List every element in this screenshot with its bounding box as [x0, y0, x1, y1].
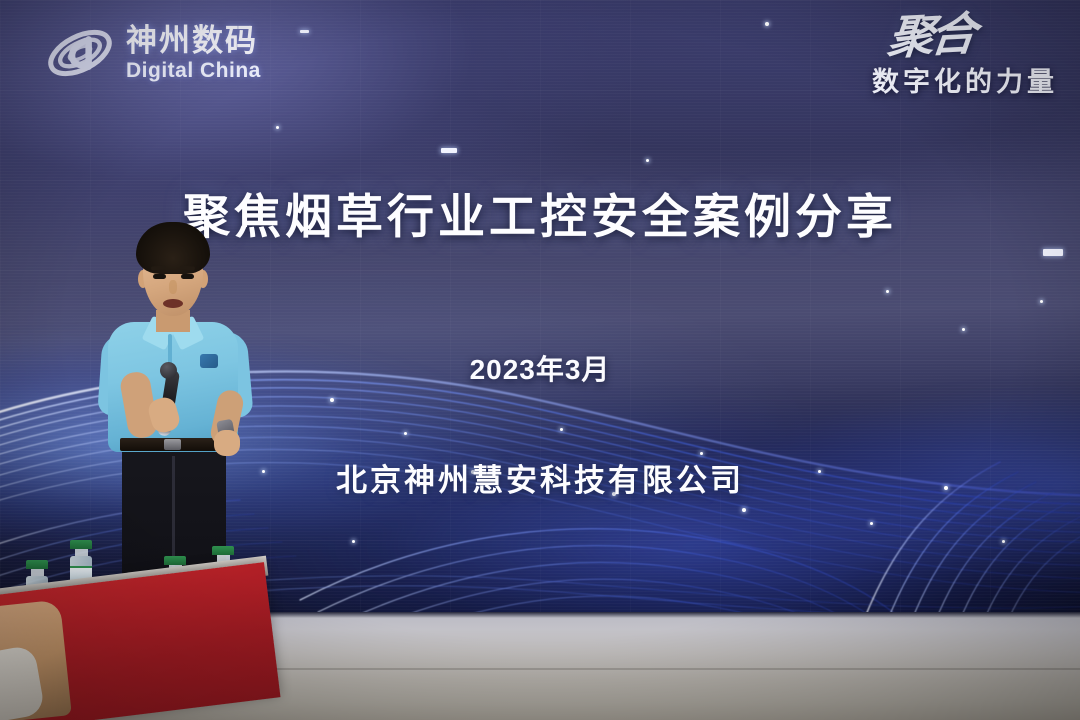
particle-dot [765, 22, 769, 26]
bottle-neck [31, 569, 44, 576]
digital-china-logo: 神州数码 Digital China [44, 22, 261, 84]
speaker-chest-logo [200, 354, 218, 368]
particle-dot [870, 522, 873, 525]
particle-dot [962, 328, 965, 331]
bottle-cap [70, 540, 92, 549]
speaker-shirt-placket [168, 334, 172, 364]
speaker-eye-right [181, 274, 194, 279]
bottle-cap [212, 546, 234, 555]
particle-dot [742, 508, 746, 512]
event-calligraphy: 聚合 [869, 13, 974, 60]
speaker-nose [169, 280, 177, 294]
speaker-hand-right [214, 430, 240, 456]
logo-name-en: Digital China [126, 60, 261, 81]
particle-dot [1002, 540, 1005, 543]
conference-photo: 神州数码 Digital China 聚合 数字化的力量 聚焦烟草行业工控安全案… [0, 0, 1080, 720]
bottle-cap [26, 560, 48, 569]
particle-dot [1040, 300, 1043, 303]
particle-dot [330, 398, 334, 402]
event-tagline: 数字化的力量 [872, 60, 1058, 99]
speaker-belt-buckle [164, 439, 181, 450]
event-brand-lockup: 聚合 数字化的力量 [872, 16, 1058, 99]
particle-dot [276, 126, 279, 129]
particle-dot [646, 159, 649, 162]
particle-dot [404, 432, 407, 435]
speaker-hair [136, 222, 210, 274]
bottle-cap [164, 556, 186, 565]
particle-dot [560, 428, 563, 431]
bottle-neck [75, 549, 88, 556]
speaker-mouth [163, 299, 183, 308]
particle-dot [352, 540, 355, 543]
digital-china-swirl-logo [44, 22, 116, 84]
particle-dot [886, 290, 889, 293]
logo-name-cn: 神州数码 [126, 25, 261, 56]
speaker-eye-left [153, 274, 166, 279]
particle-dash [441, 148, 457, 153]
particle-dash [1043, 249, 1063, 256]
particle-dash [300, 30, 309, 33]
